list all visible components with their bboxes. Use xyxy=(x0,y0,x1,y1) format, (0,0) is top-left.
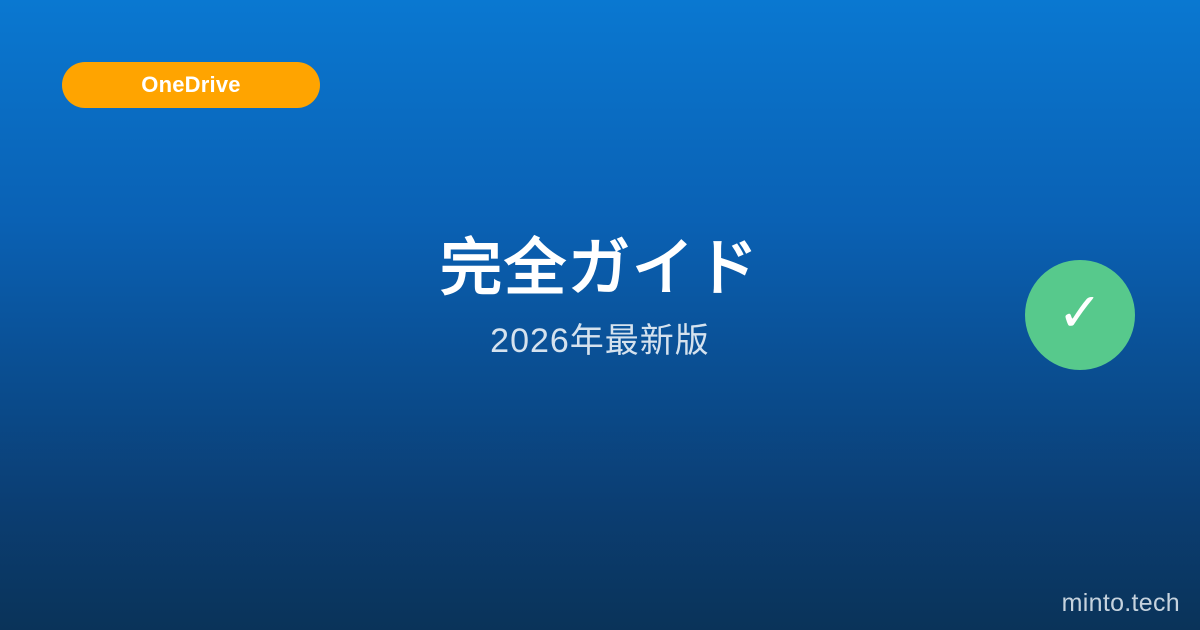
promo-card: OneDrive 完全ガイド 2026年最新版 ✓ minto.tech xyxy=(0,0,1200,630)
page-title: 完全ガイド xyxy=(0,234,1200,303)
check-badge: ✓ xyxy=(1025,260,1135,370)
category-pill-onedrive[interactable]: OneDrive xyxy=(62,62,320,108)
category-pill-label: OneDrive xyxy=(141,74,240,96)
check-icon: ✓ xyxy=(1057,286,1102,340)
headline-block: 完全ガイド 2026年最新版 xyxy=(0,234,1200,362)
page-subtitle: 2026年最新版 xyxy=(0,321,1200,362)
site-watermark: minto.tech xyxy=(1062,591,1180,616)
